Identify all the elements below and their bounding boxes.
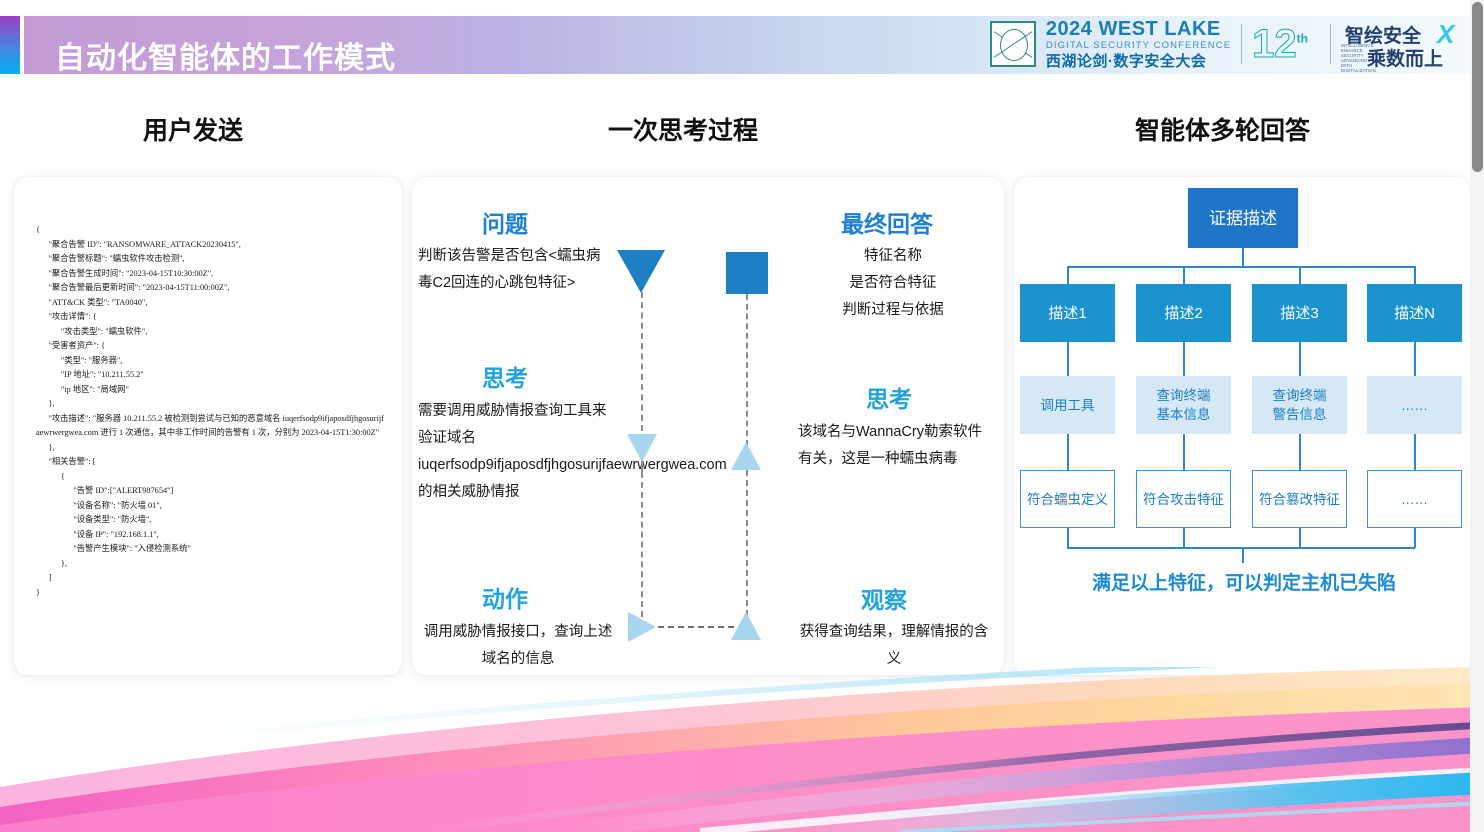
alert-json-code: { "聚合告警 ID": "RANSOMWARE_ATTACK20230415"…	[36, 223, 384, 600]
think-1-heading: 思考	[482, 359, 528, 393]
page-title: 自动化智能体的工作模式	[55, 33, 396, 77]
tree-connector-l2-l3-1	[1067, 434, 1069, 470]
action-heading: 动作	[482, 580, 528, 614]
tree-connector-root-stem	[1242, 248, 1244, 267]
tree-node-level2-4-label: ……	[1401, 396, 1428, 415]
conference-subtitle-en: DIGITAL SECURITY CONFERENCE	[1046, 41, 1231, 51]
flow-arrow-right	[628, 612, 656, 642]
tree-node-level3-4: ……	[1367, 470, 1462, 528]
column-title-agent-answer: 智能体多轮回答	[1135, 111, 1310, 147]
tree-node-level3-1: 符合蠕虫定义	[1020, 470, 1115, 528]
final-answer-heading: 最终回答	[841, 205, 933, 239]
tree-connector-drop-3	[1299, 266, 1301, 284]
conference-logo-cluster: 2024 WEST LAKE DIGITAL SECURITY CONFEREN…	[990, 20, 1476, 68]
observe-body: 获得查询结果，理解情报的含义	[796, 619, 992, 673]
conference-slogan: 智绘安全 X INTELLIGENCE ENHANCE SECURITY ADV…	[1341, 21, 1476, 67]
tree-connector-bus-bottom	[1067, 547, 1415, 549]
tree-node-level2-2: 查询终端 基本信息	[1136, 376, 1231, 434]
flow-line-right-upper	[746, 294, 748, 446]
flow-arrow-down-secondary	[627, 434, 657, 462]
tree-connector-drop-4	[1414, 266, 1416, 284]
tree-node-level2-4: ……	[1367, 376, 1462, 434]
final-answer-line-2: 是否符合特征	[800, 270, 986, 297]
user-input-card: { "聚合告警 ID": "RANSOMWARE_ATTACK20230415"…	[14, 177, 402, 675]
tree-connector-l3-bus-4	[1414, 528, 1416, 548]
tree-connector-drop-1	[1067, 266, 1069, 284]
tree-connector-l3-bus-1	[1067, 528, 1069, 548]
column-title-user-send: 用户发送	[143, 111, 243, 147]
tree-node-level2-3-label: 查询终端 警告信息	[1273, 386, 1327, 424]
tree-node-level1-3: 描述3	[1252, 284, 1347, 342]
tree-conclusion-text: 满足以上特征，可以判定主机已失陷	[1074, 568, 1414, 595]
conference-subtitle-cn: 西湖论剑·数字安全大会	[1046, 54, 1231, 69]
think-2-body: 该域名与WannaCry勒索软件有关，这是一种蠕虫病毒	[798, 419, 988, 473]
decorative-wave-footer	[0, 667, 1484, 832]
flow-arrow-down-primary	[617, 250, 665, 293]
conference-name-block: 2024 WEST LAKE DIGITAL SECURITY CONFEREN…	[1046, 19, 1231, 69]
tree-node-level1-4: 描述N	[1367, 284, 1462, 342]
question-heading: 问题	[482, 205, 528, 239]
flow-node-square	[726, 252, 768, 294]
action-body: 调用威胁情报接口，查询上述域名的信息	[418, 619, 618, 673]
tree-node-level2-1-label: 调用工具	[1041, 396, 1095, 415]
page-scrollbar-track[interactable]	[1470, 0, 1484, 832]
tree-connector-conclusion-stem	[1242, 547, 1244, 563]
tree-node-root: 证据描述	[1188, 188, 1298, 248]
final-answer-line-3: 判断过程与依据	[800, 297, 986, 324]
tree-connector-l1-l2-3	[1299, 342, 1301, 376]
tree-node-level3-2: 符合攻击特征	[1136, 470, 1231, 528]
tree-connector-l3-bus-3	[1299, 528, 1301, 548]
edition-number: 12th	[1252, 24, 1320, 64]
tree-node-level2-3: 查询终端 警告信息	[1252, 376, 1347, 434]
conference-year-line: 2024 WEST LAKE	[1046, 19, 1231, 39]
observe-heading: 观察	[861, 581, 907, 615]
tree-node-level1-2: 描述2	[1136, 284, 1231, 342]
wave-svg	[0, 667, 1484, 832]
edition-suffix: th	[1297, 32, 1308, 46]
think-2-heading: 思考	[866, 380, 912, 414]
tree-node-level3-3: 符合篡改特征	[1252, 470, 1347, 528]
logo-divider-2	[1330, 24, 1331, 64]
tree-connector-bus-top	[1067, 266, 1415, 268]
tree-connector-drop-2	[1183, 266, 1185, 284]
logo-divider-1	[1241, 24, 1242, 64]
final-answer-body: 特征名称 是否符合特征 判断过程与依据	[800, 243, 986, 324]
question-body: 判断该告警是否包含<蠕虫病毒C2回连的心跳包特征>	[418, 243, 614, 297]
tree-connector-l3-bus-2	[1183, 528, 1185, 548]
tree-connector-l1-l2-1	[1067, 342, 1069, 376]
think-1-body: 需要调用威胁情报查询工具来验证域名iuqerfsodp9ifjaposdfjhg…	[418, 398, 614, 506]
flow-line-right-lower	[746, 470, 748, 616]
tree-node-level2-1: 调用工具	[1020, 376, 1115, 434]
emblem-inner-oval	[1000, 29, 1028, 61]
westlake-emblem-icon	[990, 21, 1036, 67]
tree-connector-l2-l3-3	[1299, 434, 1301, 470]
edition-number-value: 12	[1252, 22, 1297, 66]
header-accent-bar	[0, 16, 20, 74]
flow-arrow-up-bottom	[731, 612, 761, 640]
flow-arrow-up-secondary	[731, 442, 761, 470]
tree-connector-l2-l3-2	[1183, 434, 1185, 470]
tree-node-level1-1: 描述1	[1020, 284, 1115, 342]
page-scrollbar-thumb[interactable]	[1472, 2, 1483, 172]
tree-node-level2-2-label: 查询终端 基本信息	[1157, 386, 1211, 424]
slogan-line-2: 乘数而上	[1367, 44, 1443, 71]
column-title-thinking-process: 一次思考过程	[608, 111, 758, 147]
tree-connector-l2-l3-4	[1414, 434, 1416, 470]
final-answer-line-1: 特征名称	[800, 243, 986, 270]
tree-connector-l1-l2-4	[1414, 342, 1416, 376]
flow-line-left-lower	[641, 462, 643, 627]
tree-connector-l1-l2-2	[1183, 342, 1185, 376]
